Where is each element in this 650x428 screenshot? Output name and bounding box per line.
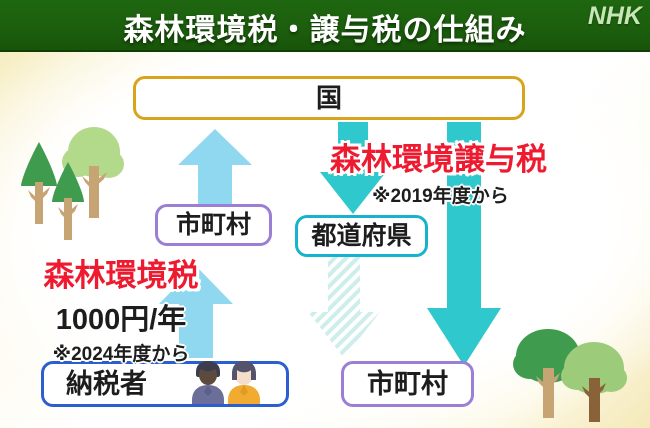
arrow-down-prefecture-to-municipality <box>306 250 382 365</box>
box-municipality-bottom[interactable]: 市町村 <box>341 361 474 407</box>
header-bar: 森林環境税・譲与税の仕組み NHK <box>0 0 650 52</box>
diagram-canvas: 国 市町村 都道府県 市町村 納税者 <box>0 52 650 428</box>
box-municipality-top-label: 市町村 <box>176 213 251 238</box>
forest-trees-left-icon <box>8 124 128 244</box>
box-municipality-top[interactable]: 市町村 <box>155 204 272 246</box>
callout-forest-environment-tax-title: 森林環境税 <box>6 250 236 295</box>
callout-forest-environment-tax: 森林環境税 1000円/年 ※2024年度から <box>6 250 236 366</box>
page-title: 森林環境税・譲与税の仕組み <box>0 5 650 49</box>
callout-forest-environment-tax-note: ※2024年度から <box>6 339 236 366</box>
callout-forest-transfer-tax-title: 森林環境譲与税 <box>330 134 630 179</box>
nhk-logo: NHK <box>588 2 642 31</box>
callout-forest-transfer-tax: 森林環境譲与税 ※2019年度から <box>330 134 630 208</box>
box-nation[interactable]: 国 <box>133 76 525 120</box>
forest-trees-right-icon <box>508 322 640 422</box>
arrow-up-municipality-to-nation <box>176 127 254 212</box>
box-taxpayers-label: 納税者 <box>66 371 147 398</box>
callout-forest-environment-tax-amount: 1000円/年 <box>6 296 236 338</box>
box-taxpayers[interactable]: 納税者 <box>41 361 289 407</box>
taxpayer-people-icon <box>174 360 270 404</box>
box-prefecture[interactable]: 都道府県 <box>295 215 428 257</box>
box-municipality-bottom-label: 市町村 <box>367 371 448 398</box>
infographic-root: 森林環境税・譲与税の仕組み NHK <box>0 0 650 428</box>
box-nation-label: 国 <box>316 85 342 111</box>
callout-forest-transfer-tax-note: ※2019年度から <box>372 181 630 208</box>
box-prefecture-label: 都道府県 <box>311 224 411 249</box>
